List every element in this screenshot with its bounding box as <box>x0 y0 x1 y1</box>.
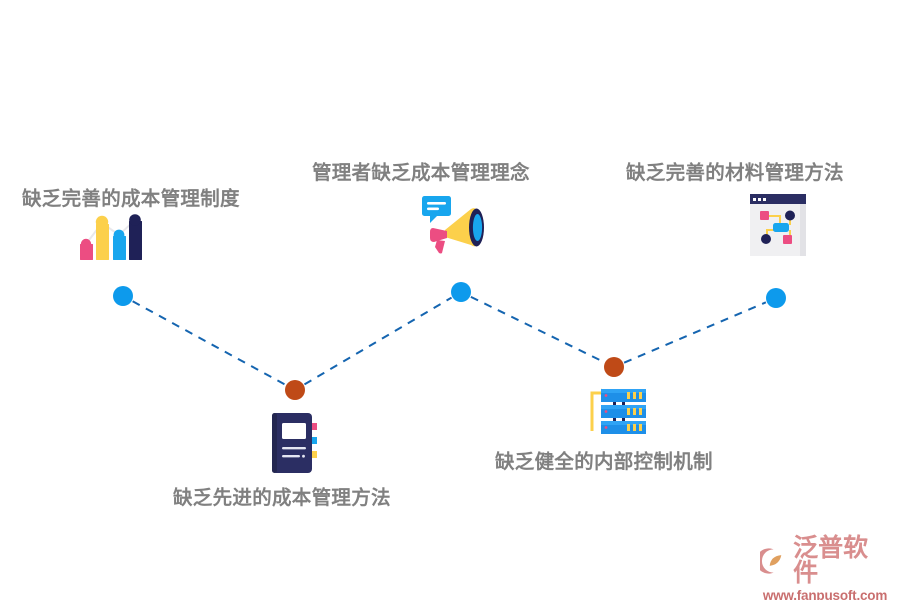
node-marker-node-2[interactable] <box>285 380 305 400</box>
connector-link-2-3 <box>304 298 451 385</box>
flowchart-window-icon <box>750 194 806 256</box>
node-label-2: 缺乏先进的成本管理方法 <box>173 487 391 510</box>
node-marker-node-1[interactable] <box>113 286 133 306</box>
node-marker-node-5[interactable] <box>766 288 786 308</box>
infographic-canvas: 缺乏完善的成本管理制度 缺乏先进的成本管理方法 <box>0 0 900 600</box>
watermark-url: www.fanpusoft.com <box>760 588 890 600</box>
ledger-book-icon <box>270 412 320 474</box>
node-label-5: 缺乏完善的材料管理方法 <box>626 162 844 185</box>
fanpu-logo-icon <box>760 547 789 575</box>
node-label-3: 管理者缺乏成本管理理念 <box>312 162 530 185</box>
connector-link-4-5 <box>624 302 766 362</box>
node-marker-node-4[interactable] <box>604 357 624 377</box>
node-label-4: 缺乏健全的内部控制机制 <box>495 451 713 474</box>
connector-layer <box>0 0 900 600</box>
connector-link-1-2 <box>133 301 286 384</box>
node-marker-node-3[interactable] <box>451 282 471 302</box>
connector-link-3-4 <box>471 297 604 362</box>
watermark-brand-text: 泛普软件 <box>793 536 890 586</box>
server-rack-icon <box>589 387 647 435</box>
watermark-brand-row: 泛普软件 <box>760 536 890 586</box>
node-label-1: 缺乏完善的成本管理制度 <box>22 188 240 211</box>
watermark-logo: 泛普软件 www.fanpusoft.com <box>760 536 890 592</box>
bar-chart-icon <box>78 211 144 261</box>
megaphone-icon <box>421 194 487 254</box>
